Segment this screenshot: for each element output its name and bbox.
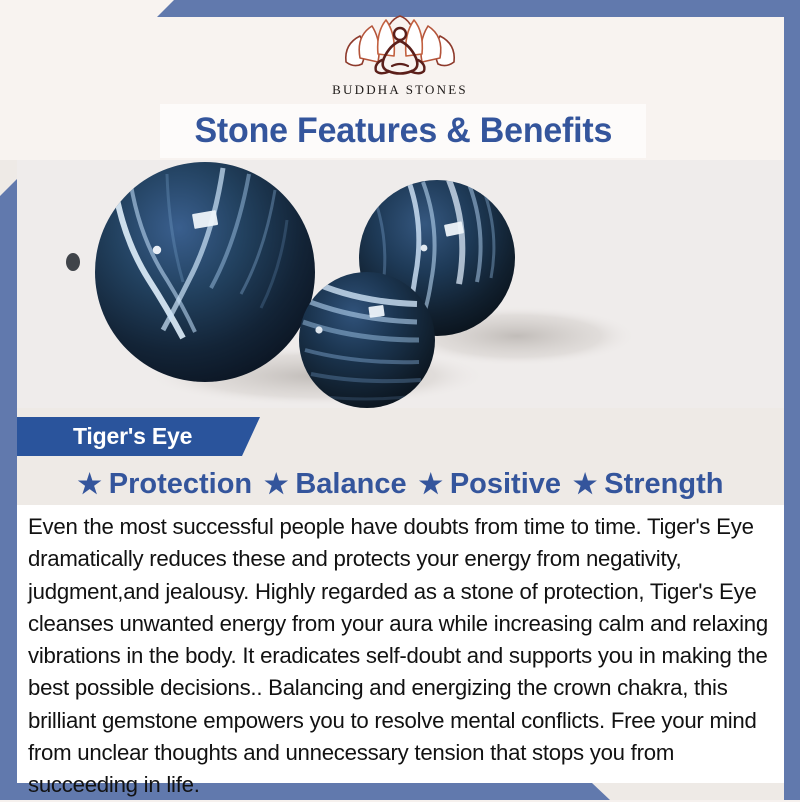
brand-logo: BUDDHA STONES xyxy=(0,14,800,98)
brand-name: BUDDHA STONES xyxy=(332,82,468,98)
description-text: Even the most successful people have dou… xyxy=(28,511,770,802)
benefit-item-balance: ★ Balance xyxy=(264,468,418,501)
star-icon: ★ xyxy=(264,471,288,498)
benefit-label: Protection xyxy=(109,468,252,501)
stone-name-label: Tiger's Eye xyxy=(17,423,192,450)
gemstone-hero-image xyxy=(17,160,784,408)
gemstone-illustration xyxy=(17,160,784,408)
page-title: Stone Features & Benefits xyxy=(194,111,612,151)
benefit-label: Balance xyxy=(295,468,406,501)
benefits-list: ★ Protection ★ Balance ★ Positive ★ Stre… xyxy=(17,463,784,505)
star-icon: ★ xyxy=(573,471,597,498)
benefit-label: Positive xyxy=(450,468,561,501)
star-icon: ★ xyxy=(419,471,443,498)
benefit-item-protection: ★ Protection xyxy=(78,468,265,501)
benefit-label: Strength xyxy=(604,468,723,501)
lotus-meditation-figure-icon xyxy=(334,14,466,80)
star-icon: ★ xyxy=(78,471,102,498)
stone-name-tag: Tiger's Eye xyxy=(17,417,260,456)
page-title-box: Stone Features & Benefits xyxy=(160,104,646,158)
description-panel: Even the most successful people have dou… xyxy=(17,505,784,783)
benefit-item-strength: ★ Strength xyxy=(573,468,723,501)
gemstone-sphere-small xyxy=(299,272,435,408)
benefit-item-positive: ★ Positive xyxy=(419,468,573,501)
